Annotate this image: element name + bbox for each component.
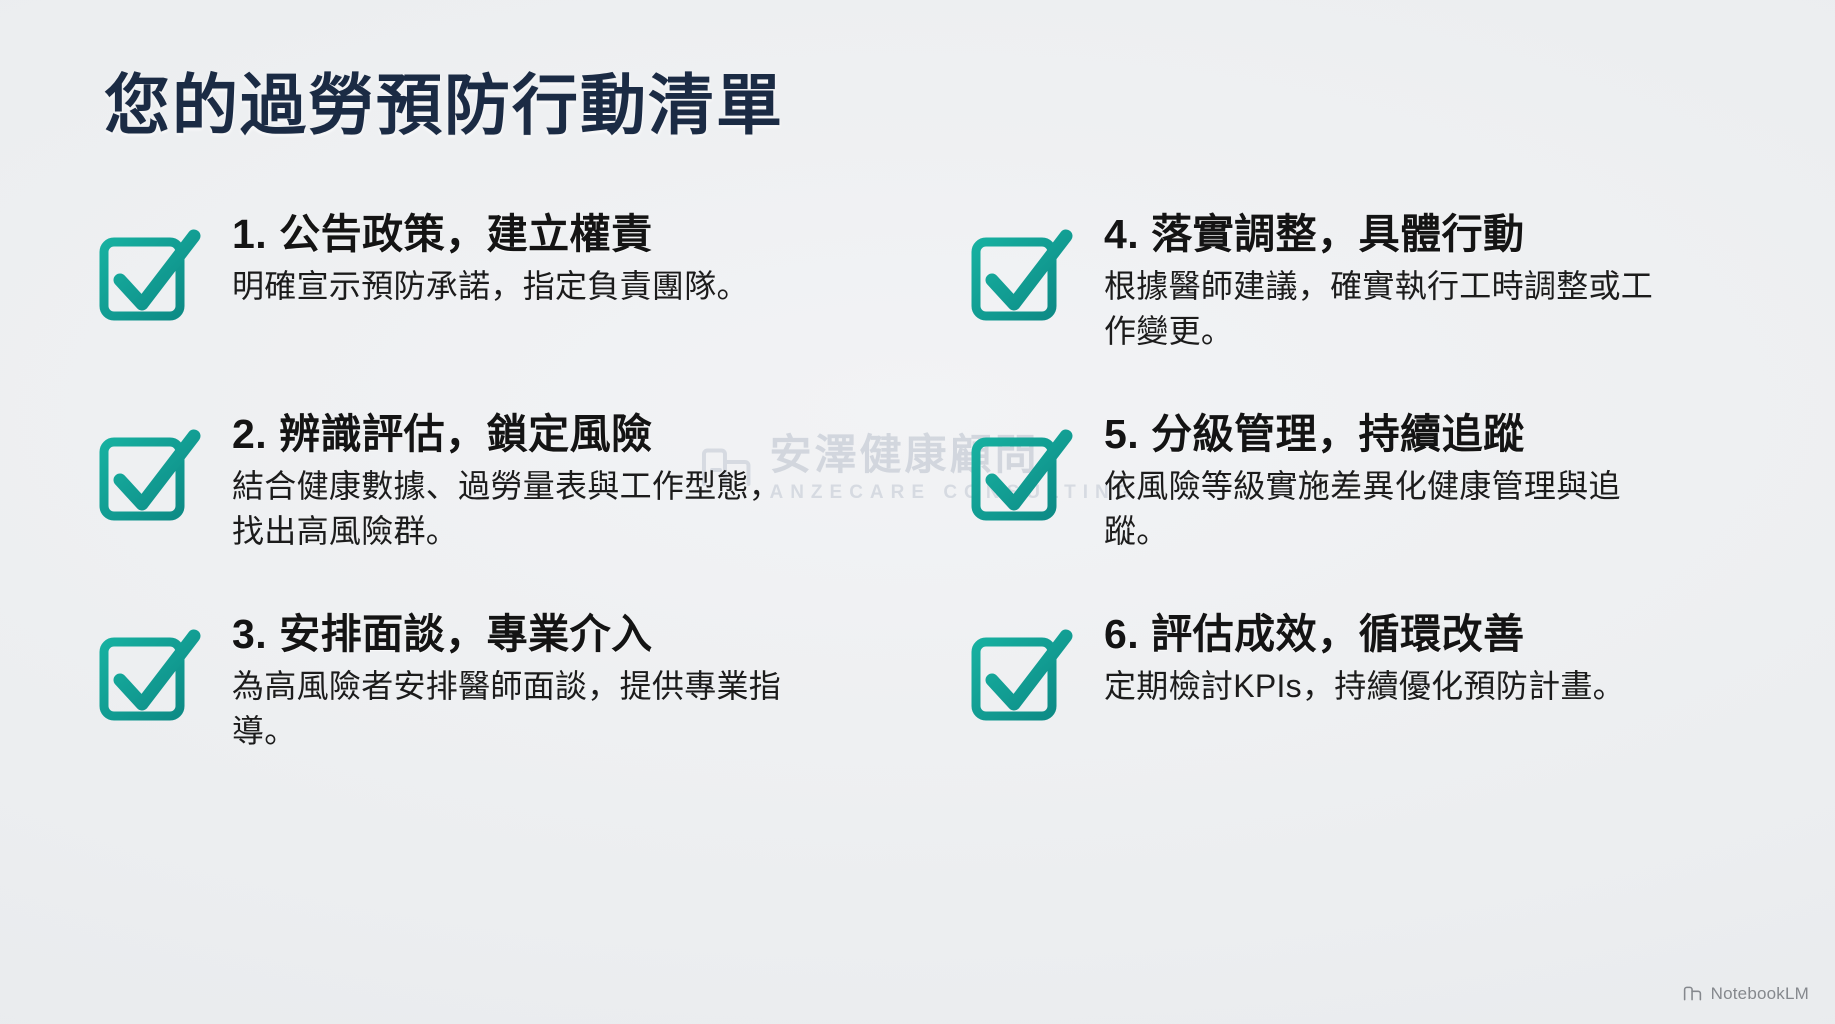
checklist-item-description: 定期檢討KPIs，持續優化預防計畫。 — [1104, 664, 1625, 709]
checklist-grid: 1. 公告政策，建立權責 明確宣示預防承諾，指定負責團隊。 4. 落實調整，具體… — [96, 210, 1756, 810]
checklist-item[interactable]: 3. 安排面談，專業介入 為高風險者安排醫師面談，提供專業指導。 — [96, 610, 956, 810]
checklist-item[interactable]: 5. 分級管理，持續追蹤 依風險等級實施差異化健康管理與追蹤。 — [968, 410, 1768, 610]
check-square-icon — [96, 622, 204, 726]
checklist-item[interactable]: 2. 辨識評估，鎖定風險 結合健康數據、過勞量表與工作型態，找出高風險群。 — [96, 410, 956, 610]
check-square-icon — [968, 422, 1076, 526]
checklist-item-title: 5. 分級管理，持續追蹤 — [1104, 411, 1525, 457]
checklist-item-text: 6. 評估成效，循環改善 定期檢討KPIs，持續優化預防計畫。 — [1104, 610, 1625, 709]
checklist-item-text: 2. 辨識評估，鎖定風險 結合健康數據、過勞量表與工作型態，找出高風險群。 — [232, 410, 812, 555]
checklist-item-text: 3. 安排面談，專業介入 為高風險者安排醫師面談，提供專業指導。 — [232, 610, 812, 755]
slide-canvas: 您的過勞預防行動清單 安澤健康顧問 ANZECARE CONSULTING — [0, 0, 1835, 1024]
check-square-icon — [96, 222, 204, 326]
checklist-item[interactable]: 1. 公告政策，建立權責 明確宣示預防承諾，指定負責團隊。 — [96, 210, 956, 410]
check-square-icon — [968, 622, 1076, 726]
checklist-item-title: 2. 辨識評估，鎖定風險 — [232, 411, 653, 457]
notebooklm-badge: NotebookLM — [1682, 983, 1809, 1004]
checklist-item-description: 明確宣示預防承諾，指定負責團隊。 — [232, 264, 749, 309]
checklist-item-title: 6. 評估成效，循環改善 — [1104, 611, 1525, 657]
check-square-icon — [968, 222, 1076, 326]
checklist-item[interactable]: 4. 落實調整，具體行動 根據醫師建議，確實執行工時調整或工作變更。 — [968, 210, 1768, 410]
page-title: 您的過勞預防行動清單 — [104, 52, 784, 148]
checklist-item-description: 根據醫師建議，確實執行工時調整或工作變更。 — [1104, 264, 1684, 355]
checklist-item-text: 1. 公告政策，建立權責 明確宣示預防承諾，指定負責團隊。 — [232, 210, 749, 309]
checklist-item-description: 結合健康數據、過勞量表與工作型態，找出高風險群。 — [232, 464, 812, 555]
checklist-item[interactable]: 6. 評估成效，循環改善 定期檢討KPIs，持續優化預防計畫。 — [968, 610, 1768, 810]
notebooklm-label: NotebookLM — [1711, 984, 1809, 1004]
checklist-item-title: 1. 公告政策，建立權責 — [232, 211, 653, 257]
checklist-item-text: 4. 落實調整，具體行動 根據醫師建議，確實執行工時調整或工作變更。 — [1104, 210, 1684, 355]
checklist-item-text: 5. 分級管理，持續追蹤 依風險等級實施差異化健康管理與追蹤。 — [1104, 410, 1684, 555]
checklist-item-title: 4. 落實調整，具體行動 — [1104, 211, 1525, 257]
checklist-item-description: 依風險等級實施差異化健康管理與追蹤。 — [1104, 464, 1684, 555]
checklist-item-title: 3. 安排面談，專業介入 — [232, 611, 653, 657]
check-square-icon — [96, 422, 204, 526]
notebooklm-logo-icon — [1682, 983, 1703, 1004]
checklist-item-description: 為高風險者安排醫師面談，提供專業指導。 — [232, 664, 812, 755]
